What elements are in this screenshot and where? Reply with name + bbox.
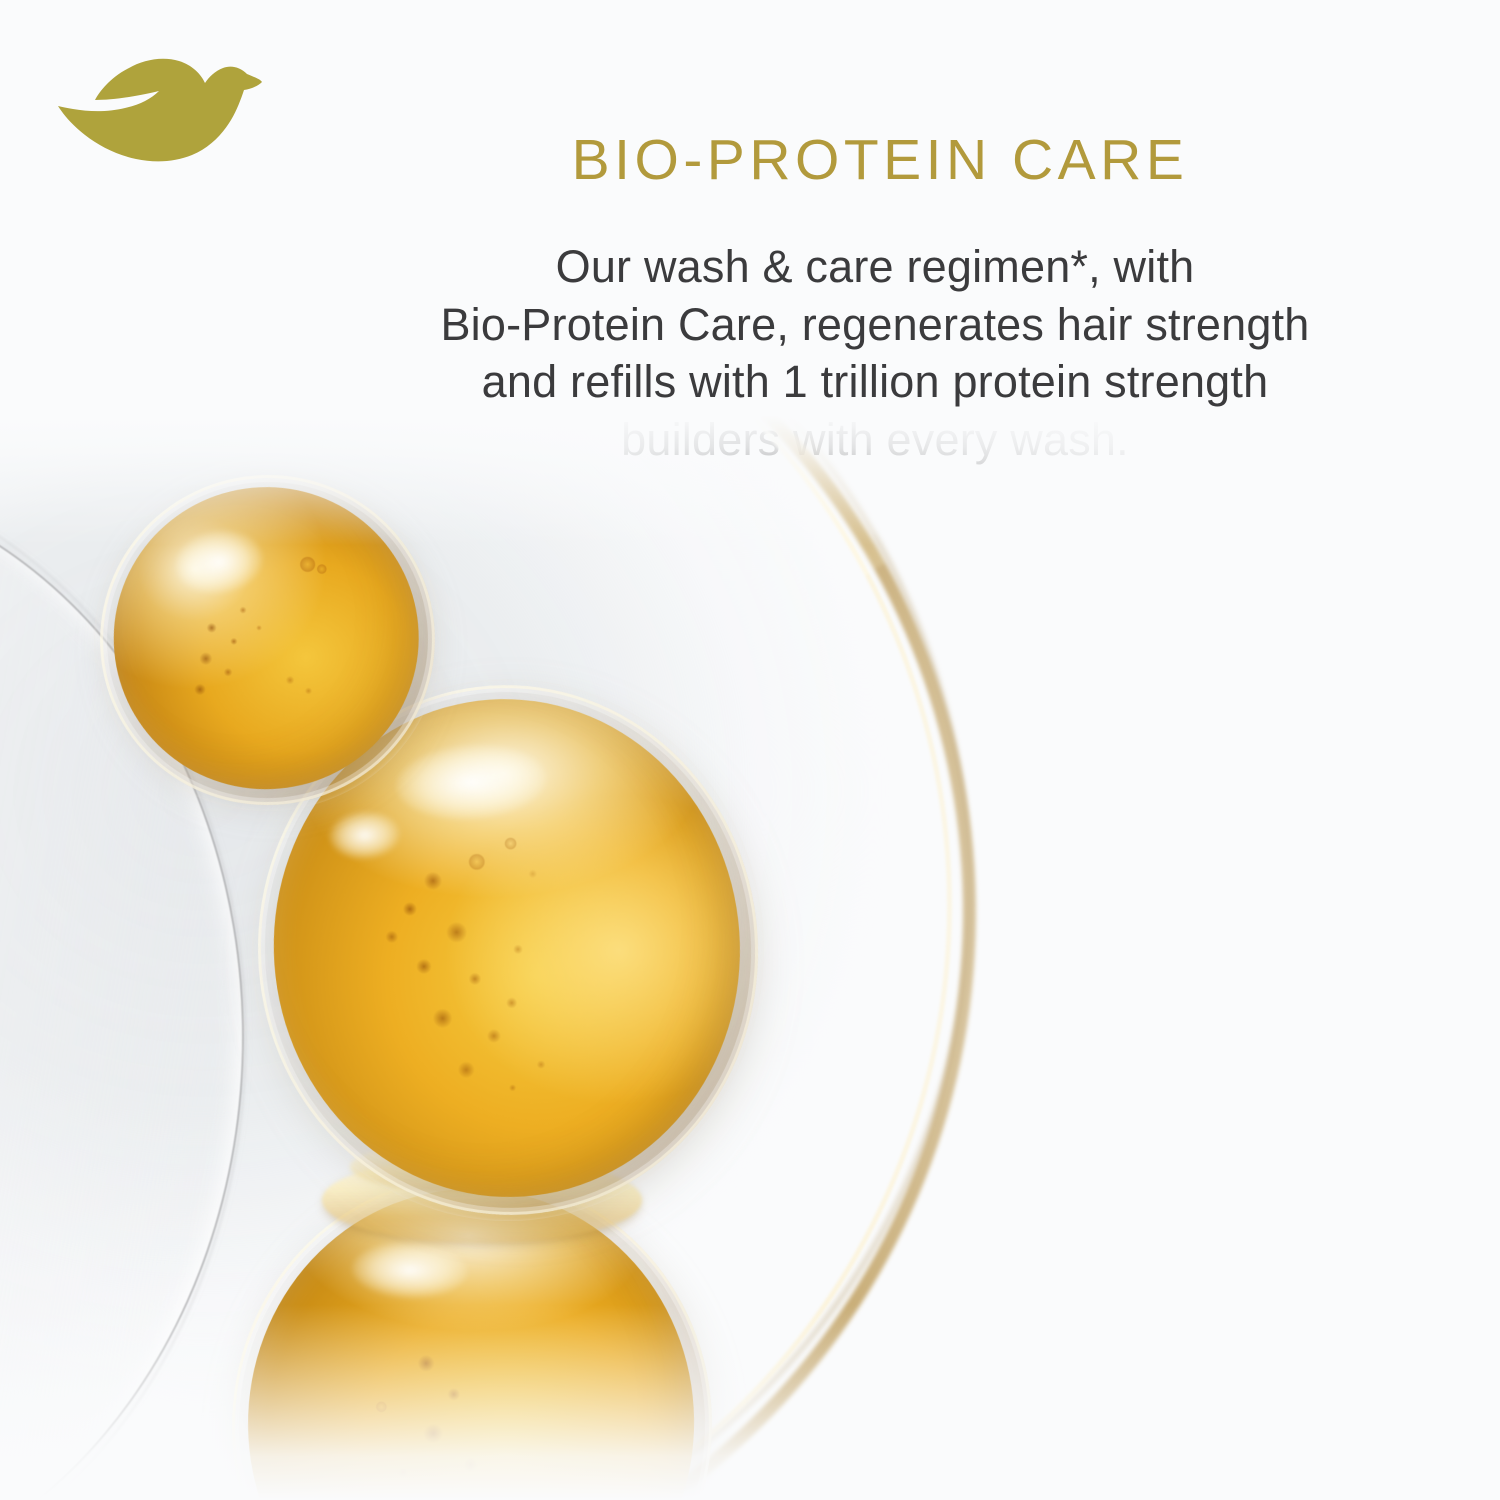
body-copy-line: Bio-Protein Care, regenerates hair stren…	[260, 296, 1490, 354]
page-title: BIO-PROTEIN CARE	[300, 130, 1460, 192]
body-copy-line: Our wash & care regimen*, with	[260, 238, 1490, 296]
body-copy-line: and refills with 1 trillion protein stre…	[260, 353, 1490, 411]
dove-logo-icon	[55, 52, 270, 167]
product-photo	[0, 415, 1500, 1500]
product-panel: BIO-PROTEIN CARE Our wash & care regimen…	[0, 0, 1500, 1500]
